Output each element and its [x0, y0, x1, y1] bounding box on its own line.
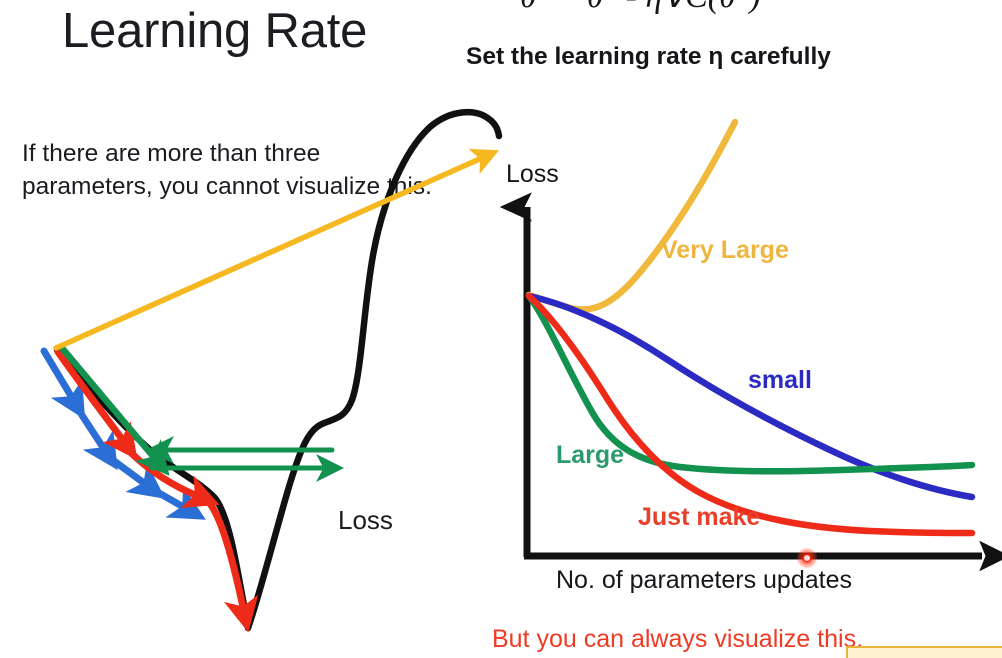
y-axis-label: Loss — [506, 160, 559, 189]
slide-canvas: Learning Rate θ¹ = θ⁰ - η∇C(θ⁰) Set the … — [0, 0, 1002, 658]
left-loss-axis-label: Loss — [338, 505, 393, 536]
loss-landscape-curve — [57, 112, 499, 628]
mouse-cursor-dot — [797, 548, 817, 568]
series-label-small: small — [748, 366, 812, 395]
bottom-note-text: But you can always visualize this. — [492, 625, 863, 654]
series-very-large — [529, 122, 735, 310]
x-axis-label: No. of parameters updates — [556, 566, 852, 595]
series-label-just-make: Just make — [638, 503, 760, 532]
loss-landscape-diagram — [0, 0, 1002, 658]
pointer-arrow — [56, 157, 484, 348]
oscillation-arrows — [152, 450, 332, 468]
loss-vs-updates-chart — [524, 122, 982, 557]
bottom-highlight-strip — [846, 646, 1002, 658]
just-right-learning-rate-arrows — [58, 352, 244, 612]
series-label-very-large: Very Large — [661, 236, 789, 265]
series-label-large: Large — [556, 441, 624, 470]
